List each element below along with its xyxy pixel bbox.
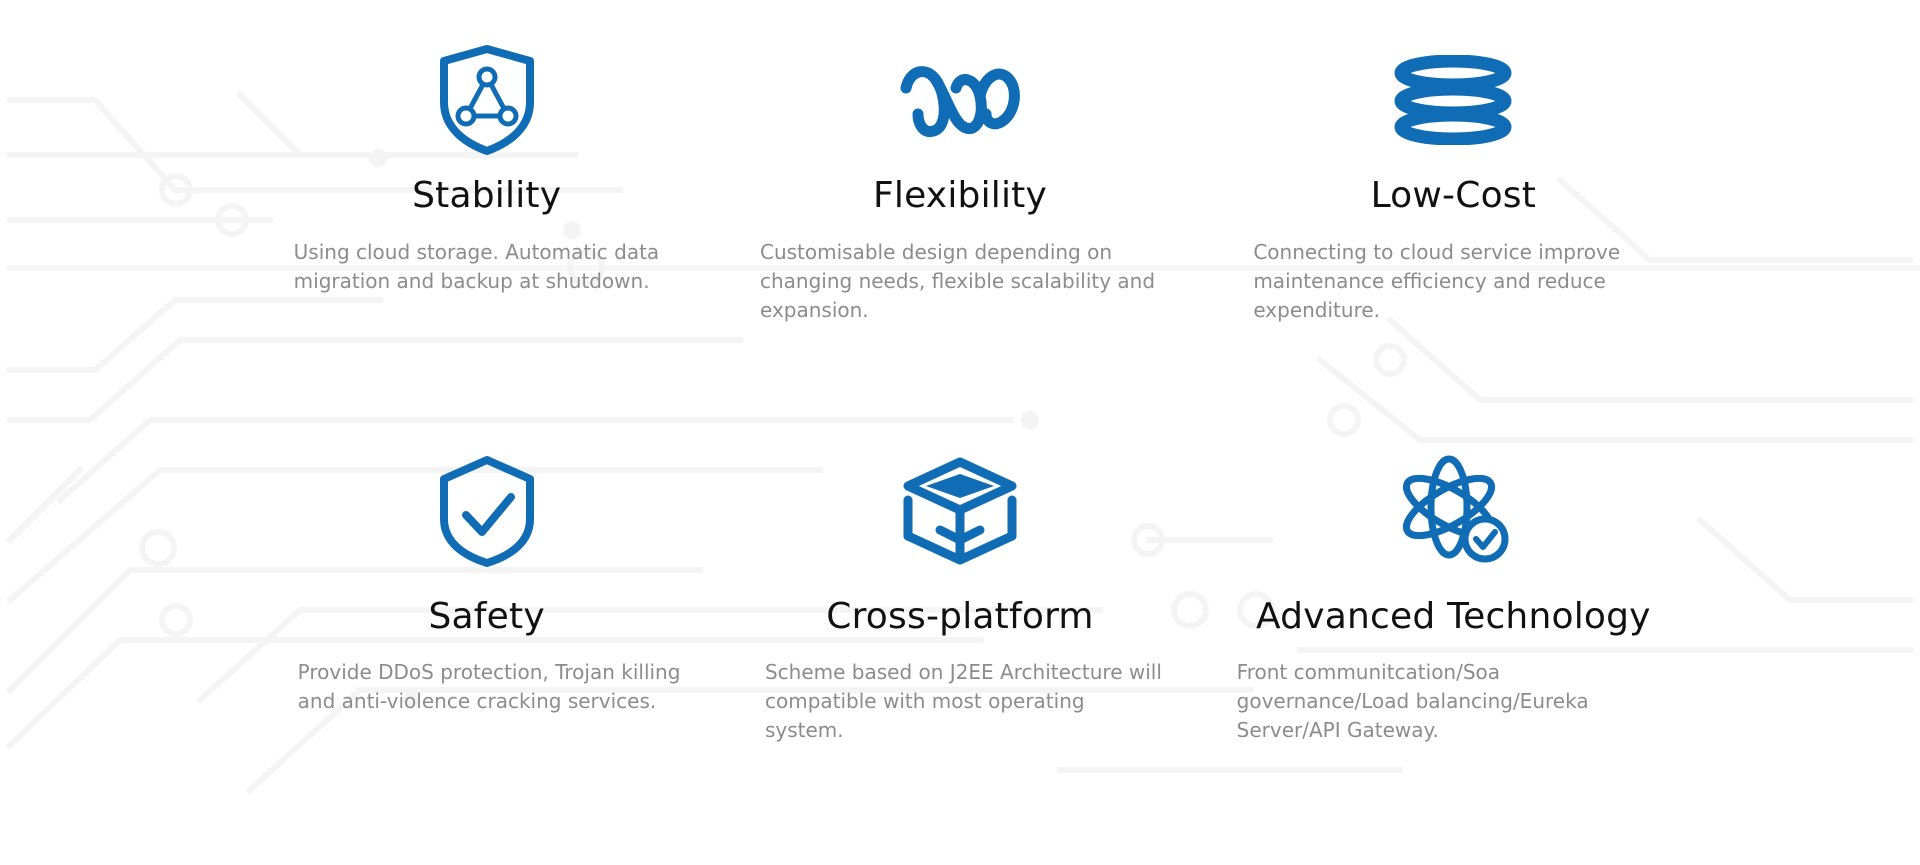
feature-description: Connecting to cloud service improve main…	[1253, 238, 1653, 325]
database-stack-icon	[1391, 40, 1515, 160]
feature-description: Provide DDoS protection, Trojan killing …	[276, 658, 698, 716]
feature-title: Safety	[428, 597, 544, 637]
feature-description: Customisable design depending on changin…	[760, 238, 1160, 325]
feature-card-cross-platform: Cross-platform Scheme based on J2EE Arch…	[723, 433, 1196, 826]
feature-title: Stability	[412, 176, 561, 216]
shield-check-icon	[437, 451, 537, 571]
feature-title: Flexibility	[873, 176, 1047, 216]
feature-card-advanced-technology: Advanced Technology Front communitcation…	[1197, 433, 1670, 826]
feature-description: Front communitcation/Soa governance/Load…	[1237, 658, 1670, 745]
feature-title: Cross-platform	[826, 597, 1093, 637]
feature-card-safety: Safety Provide DDoS protection, Trojan k…	[250, 433, 723, 826]
features-grid: Stability Using cloud storage. Automatic…	[0, 0, 1920, 865]
wave-loop-icon	[898, 40, 1022, 160]
feature-card-flexibility: Flexibility Customisable design dependin…	[723, 40, 1196, 433]
shield-network-icon	[437, 40, 537, 160]
feature-card-stability: Stability Using cloud storage. Automatic…	[250, 40, 723, 433]
feature-title: Low-Cost	[1371, 176, 1537, 216]
feature-title: Advanced Technology	[1256, 597, 1651, 637]
isometric-box-icon	[902, 451, 1018, 571]
atom-check-icon	[1393, 451, 1513, 571]
feature-card-low-cost: Low-Cost Connecting to cloud service imp…	[1197, 40, 1670, 433]
feature-description: Using cloud storage. Automatic data migr…	[280, 238, 694, 296]
feature-description: Scheme based on J2EE Architecture will c…	[755, 658, 1165, 745]
